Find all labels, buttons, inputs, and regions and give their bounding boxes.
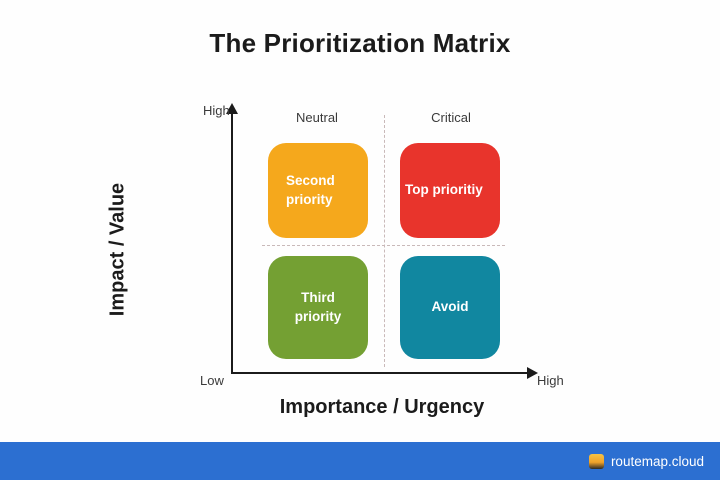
horizontal-divider-line [262,245,505,246]
brand-label: routemap.cloud [611,454,704,469]
quadrant-avoid[interactable]: Avoid [400,256,500,359]
brand-link[interactable]: routemap.cloud [589,454,704,469]
y-axis-high-label: High [203,103,230,118]
column-header-neutral: Neutral [262,110,372,125]
footer-bar: routemap.cloud [0,442,720,480]
vertical-divider-line [384,115,385,367]
x-axis-line [231,372,528,374]
quadrant-top-priority-label: Top prioritiy [405,181,500,199]
x-axis-low-label: Low [200,373,224,388]
diagram-canvas: The Prioritization Matrix High Low High … [0,0,720,480]
page-title: The Prioritization Matrix [0,28,720,59]
quadrant-third-priority[interactable]: Third priority [268,256,368,359]
quadrant-third-priority-label: Third priority [268,289,368,325]
y-axis-line [231,112,233,374]
x-axis-title: Importance / Urgency [232,396,532,419]
quadrant-second-priority[interactable]: Second priority [268,143,368,238]
routemap-logo-icon [589,454,604,469]
column-header-critical: Critical [396,110,506,125]
quadrant-avoid-label: Avoid [400,298,500,316]
y-axis-title: Impact / Value [107,120,130,380]
x-axis-high-label: High [537,373,564,388]
quadrant-second-priority-label: Second priority [286,172,368,208]
quadrant-top-priority[interactable]: Top prioritiy [400,143,500,238]
